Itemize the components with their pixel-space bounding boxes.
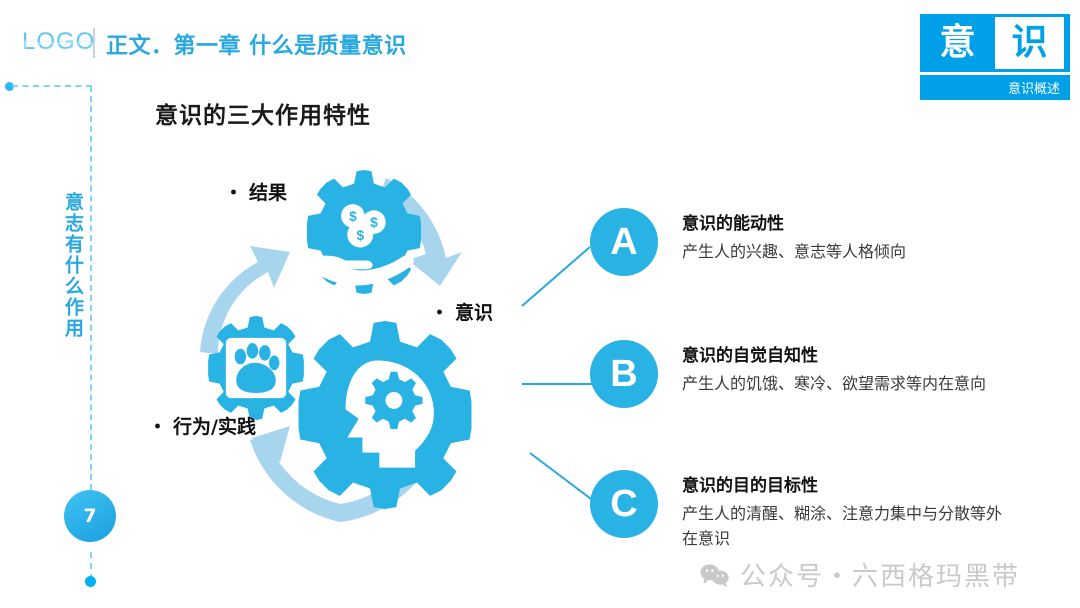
header-title: 正文．第一章 什么是质量意识: [106, 28, 407, 60]
rail-dot-bottom: [85, 576, 96, 587]
badge-char-2: 识: [995, 17, 1064, 69]
item-text-c: 产生人的清醒、糊涂、注意力集中与分散等外在意识: [682, 501, 1012, 551]
item-body-c: 意识的目的目标性 产生人的清醒、糊涂、注意力集中与分散等外在意识: [682, 474, 1012, 551]
bullet-action: ・: [148, 416, 167, 438]
item-text-b: 产生人的饥饿、寒冷、欲望需求等内在意向: [682, 371, 1012, 396]
page-number-badge: 7: [64, 490, 116, 542]
label-result: ・结果: [224, 178, 287, 205]
slide-canvas: LOGO LOGO 正文．第一章 什么是质量意识 意 识 意识概述 意志有什么作…: [0, 0, 1080, 608]
item-text-a: 产生人的兴趣、意志等人格倾向: [682, 239, 1012, 264]
item-body-a: 意识的能动性 产生人的兴趣、意志等人格倾向: [682, 212, 1012, 264]
rail-line-horizontal: [12, 85, 92, 87]
item-heading-a: 意识的能动性: [682, 212, 1012, 236]
watermark-text: 公众号・六西格玛黑带: [740, 556, 1020, 593]
gear-cycle-diagram: $ $ $: [140, 140, 560, 560]
slide-header: LOGO LOGO 正文．第一章 什么是质量意识: [0, 0, 1080, 80]
item-letter-b: B: [590, 340, 658, 408]
wechat-icon: [700, 562, 730, 588]
item-heading-b: 意识的自觉自知性: [682, 344, 1012, 368]
section-vertical-label: 意志有什么作用: [52, 192, 86, 339]
item-heading-c: 意识的目的目标性: [682, 474, 1012, 498]
svg-text:$: $: [356, 228, 364, 243]
label-result-text: 结果: [249, 182, 287, 204]
item-letter-c: C: [590, 470, 658, 538]
label-awareness: ・意识: [430, 298, 493, 325]
chapter-badge: 意 识 意识概述: [920, 14, 1070, 100]
header-divider: [93, 28, 95, 58]
label-action: ・行为/实践: [148, 412, 256, 439]
item-body-b: 意识的自觉自知性 产生人的饥饿、寒冷、欲望需求等内在意向: [682, 344, 1012, 396]
badge-subtitle: 意识概述: [920, 75, 1070, 100]
item-letter-a: A: [590, 208, 658, 276]
bullet-awareness: ・: [430, 302, 449, 324]
logo-reflection: LOGO: [22, 37, 95, 52]
connector-line-b: [522, 383, 592, 385]
badge-char-1: 意: [920, 14, 995, 72]
gear-result: $ $ $: [307, 170, 421, 294]
svg-text:$: $: [370, 215, 378, 230]
svg-text:$: $: [349, 209, 357, 224]
label-awareness-text: 意识: [455, 302, 493, 324]
page-title: 意识的三大作用特性: [155, 96, 371, 130]
watermark: 公众号・六西格玛黑带: [700, 556, 1020, 593]
rail-line-vertical: [90, 86, 92, 490]
label-action-text: 行为/实践: [173, 416, 256, 438]
bullet-result: ・: [224, 182, 243, 204]
gear-action: [208, 316, 304, 420]
gear-diagram-svg: $ $ $: [140, 140, 560, 560]
gear-awareness: [299, 321, 472, 509]
